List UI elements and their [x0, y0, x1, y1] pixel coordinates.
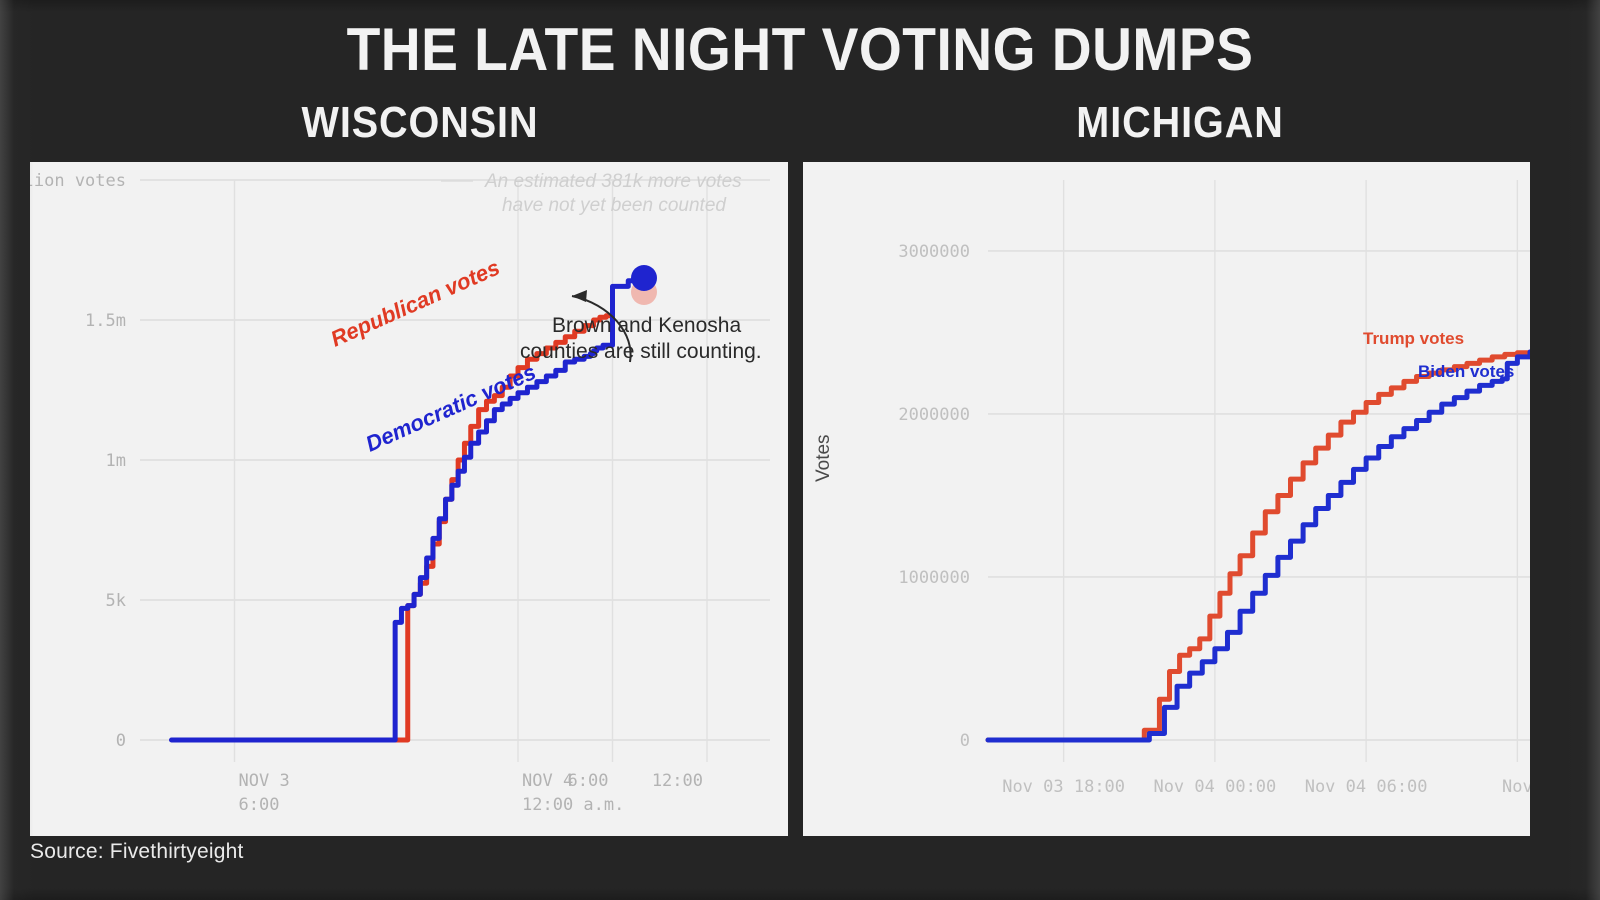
wisconsin-x-tick-sublabel: 6:00 — [239, 795, 280, 815]
michigan-series-line — [988, 352, 1530, 740]
michigan-x-axis-ticks: Nov 03 18:00Nov 04 00:00Nov 04 06:00Nov — [1002, 777, 1530, 797]
michigan-line-chart: 0100000020000003000000 Nov 03 18:00Nov 0… — [803, 162, 1530, 836]
series-label-republican: Republican votes — [327, 255, 504, 352]
series-label-biden: Biden votes — [1418, 362, 1514, 381]
subtitle-wisconsin: WISCONSIN — [204, 98, 636, 148]
wisconsin-y-tick-label: 1.5m — [85, 311, 126, 331]
michigan-y-tick-label: 3000000 — [898, 242, 970, 262]
annotation-uncounted-line2: have not yet been counted — [502, 195, 727, 216]
subtitle-michigan: MICHIGAN — [964, 98, 1396, 148]
chart-panel-wisconsin: 05k1m1.5m2 million votes NOV 36:00NOV 41… — [30, 162, 788, 836]
wisconsin-x-tick-label: 12:00 — [652, 771, 703, 791]
wisconsin-y-tick-label: 2 million votes — [30, 171, 126, 191]
page-title: THE LATE NIGHT VOTING DUMPS — [64, 20, 1536, 80]
wisconsin-x-tick-label: NOV 4 — [522, 771, 573, 791]
annotation-counting-line1: Brown and Kenosha — [552, 314, 741, 337]
michigan-y-tick-label: 1000000 — [898, 568, 970, 588]
wisconsin-y-tick-label: 5k — [106, 591, 126, 611]
wisconsin-line-chart: 05k1m1.5m2 million votes NOV 36:00NOV 41… — [30, 162, 788, 836]
annotation-counting-line2: counties are still counting. — [520, 340, 762, 363]
wisconsin-y-tick-label: 0 — [116, 731, 126, 751]
michigan-gridlines — [988, 180, 1530, 762]
wisconsin-endpoint-marker — [631, 265, 657, 291]
wisconsin-endpoint-markers — [631, 265, 657, 305]
michigan-y-tick-label: 0 — [960, 731, 970, 751]
michigan-x-tick-label: Nov 04 00:00 — [1153, 777, 1276, 797]
wisconsin-gridlines — [140, 180, 770, 762]
michigan-x-tick-label: Nov 03 18:00 — [1002, 777, 1125, 797]
wisconsin-y-axis-ticks: 05k1m1.5m2 million votes — [30, 171, 126, 751]
annotation-arrow-head — [572, 290, 587, 302]
michigan-y-tick-label: 2000000 — [898, 405, 970, 425]
michigan-y-axis-title: Votes — [813, 434, 834, 482]
wisconsin-x-tick-label: 6:00 — [568, 771, 609, 791]
infographic-root: THE LATE NIGHT VOTING DUMPS WISCONSIN MI… — [0, 0, 1600, 900]
wisconsin-x-axis-ticks: NOV 36:00NOV 412:00 a.m.6:0012:00 — [239, 771, 704, 815]
chart-panel-michigan: 0100000020000003000000 Nov 03 18:00Nov 0… — [803, 162, 1530, 836]
wisconsin-y-tick-label: 1m — [106, 451, 126, 471]
michigan-series-lines — [988, 352, 1530, 740]
michigan-x-tick-label: Nov 04 06:00 — [1305, 777, 1428, 797]
series-label-trump: Trump votes — [1363, 329, 1464, 348]
michigan-y-axis-ticks: 0100000020000003000000 — [898, 242, 970, 751]
michigan-series-line — [988, 352, 1530, 740]
wisconsin-series-line — [203, 316, 613, 740]
source-credit: Source: Fivethirtyeight — [30, 840, 244, 864]
series-label-democrat: Democratic votes — [362, 359, 540, 456]
annotation-uncounted-line1: An estimated 381k more votes — [484, 171, 742, 192]
wisconsin-x-tick-label: NOV 3 — [239, 771, 290, 791]
michigan-x-tick-label: Nov — [1502, 777, 1530, 797]
wisconsin-x-tick-sublabel: 12:00 a.m. — [522, 795, 624, 815]
